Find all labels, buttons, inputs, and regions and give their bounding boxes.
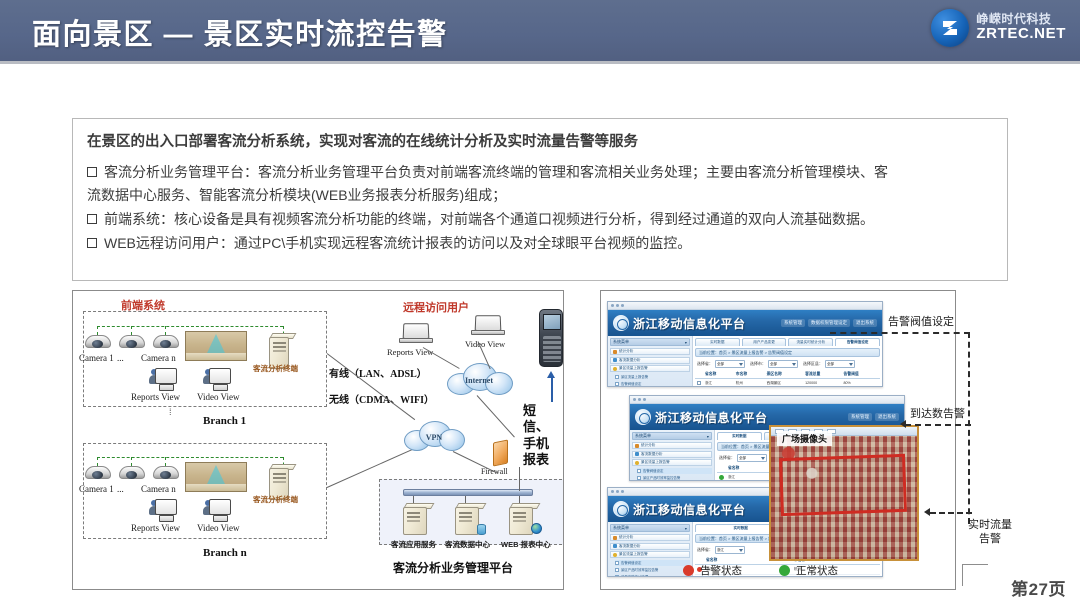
- description-title: 在景区的出入口部署客流分析系统，实现对客流的在线统计分析及实时流量告警等服务: [87, 132, 993, 154]
- bullet-icon: [635, 452, 639, 456]
- sidebar-item-statistics[interactable]: 统计分析: [610, 348, 690, 355]
- filter-city[interactable]: 选择市： 全部: [750, 360, 798, 368]
- camera-bus-line: [97, 326, 283, 327]
- tree-item-label: 告警阀值设定: [621, 381, 641, 386]
- filter-province[interactable]: 选择省： 全部: [697, 360, 745, 368]
- laptop1-to-internet-line: [423, 347, 460, 369]
- window-chip[interactable]: 系统管理: [781, 319, 805, 327]
- annotation-realtime-line2: 告警: [955, 532, 1025, 546]
- square-bullet-icon: [87, 238, 97, 248]
- sidebar-title: 系统菜单: [635, 433, 651, 439]
- camera-icon: [119, 335, 145, 352]
- description-item-1: 客流分析业务管理平台：客流分析业务管理平台负责对前端客流终端的管理和客流相关业务…: [87, 162, 993, 184]
- filter-label: 选择省：: [697, 547, 713, 553]
- annotation-line-vertical: [968, 332, 970, 524]
- scene-thumbnail: [185, 331, 247, 361]
- cell-province: 浙江: [703, 379, 734, 388]
- video-view-laptop-icon: [471, 315, 505, 337]
- col-status: [717, 465, 726, 473]
- description-item-2: 前端系统：核心设备是具有视频客流分析功能的终端，对前端各个通道口视频进行分析，得…: [87, 209, 993, 231]
- collapse-icon[interactable]: ▾: [685, 340, 687, 345]
- platform-seal-icon: [613, 501, 629, 517]
- legend-label: 正常状态: [796, 563, 838, 578]
- tree-item[interactable]: 流量实时统计管理: [615, 574, 690, 578]
- sidebar-tree[interactable]: 告警阀值设定 景区产品时效率监控告警 流量实时统计管理: [632, 468, 712, 482]
- status-dot-alarm-icon: [683, 565, 694, 576]
- tree-toggle-icon[interactable]: [615, 568, 619, 572]
- sidebar-item-label: 统计分析: [619, 349, 633, 354]
- branch1-to-vpn-line: [327, 353, 415, 420]
- tab-realtime-data[interactable]: 实时数据: [695, 338, 740, 346]
- app-title: 浙江移动信息化平台: [655, 409, 768, 426]
- sidebar-item-flow-analysis[interactable]: 客流数据分析: [610, 543, 690, 550]
- sidebar-item-statistics[interactable]: 统计分析: [632, 442, 712, 449]
- bullet-icon: [613, 350, 617, 354]
- vpn-cloud-icon: VPN: [401, 419, 467, 453]
- province-select[interactable]: 全部: [715, 360, 745, 368]
- annotation-arrow-realtime: [924, 508, 930, 516]
- city-select-value: 全部: [770, 362, 777, 367]
- platform-bus-bar: [403, 489, 533, 496]
- col-total: 客流总量: [803, 371, 841, 379]
- app-title: 浙江移动信息化平台: [633, 501, 746, 518]
- platform-seal-icon: [613, 315, 629, 331]
- sidebar-header: 系统菜单 ▾: [610, 338, 690, 346]
- sidebar-header: 系统菜单 ▾: [632, 432, 712, 440]
- tree-toggle-icon[interactable]: [615, 561, 619, 565]
- camera-ellipsis-label: ...: [117, 353, 124, 363]
- tree-item-label: 告警阀值设定: [621, 560, 641, 565]
- annotation-realtime-line1: 实时流量: [955, 518, 1025, 532]
- sms-arrow-icon: [547, 371, 555, 378]
- server-icon-application: [403, 507, 431, 537]
- camera-bus-drop: [131, 457, 132, 466]
- chevron-down-icon[interactable]: [739, 363, 743, 366]
- tree-toggle-icon[interactable]: [637, 476, 641, 480]
- database-cylinder-icon: [477, 524, 486, 535]
- screenshots-panel: 浙江移动信息化平台 系统管理 数据权限管理设定 退出系统 系统菜单 ▾ 统计分析: [600, 290, 956, 590]
- tree-item-label: 告警阀值设定: [643, 468, 663, 473]
- camera-icon: [85, 335, 111, 352]
- window-chrome: [608, 302, 882, 310]
- firewall-to-platform-link: [519, 467, 520, 491]
- square-camera-photo[interactable]: 广场摄像头: [769, 425, 919, 561]
- video-view-label: Video View: [465, 339, 505, 349]
- tab-strip[interactable]: 实时数据 用户产品变更 流量实时统计分析 告警阀值设定: [695, 338, 880, 346]
- sidebar-item-label: 景区流量上报告警: [619, 366, 648, 371]
- filter-district[interactable]: 选择区县： 全部: [803, 360, 855, 368]
- crowd-detection-region: [779, 454, 906, 516]
- square-bullet-icon: [87, 167, 97, 177]
- alarm-threshold-table: 省名称 市名称 景区名称 客流总量 告警阀值 浙江 杭州 西湖景区 120000…: [695, 371, 880, 387]
- row-status: [717, 473, 726, 482]
- tree-toggle-icon[interactable]: [615, 375, 619, 379]
- sidebar-item-label: 景区流量上报告警: [619, 552, 648, 557]
- window-main-content: 实时数据 用户产品变更 流量实时统计分析 告警阀值设定 当前位置：首页 > 景区…: [693, 336, 882, 386]
- sidebar-tree[interactable]: 告警阀值设定 景区产品时效率监控告警 流量实时统计管理: [610, 560, 690, 578]
- sidebar-item-label: 统计分析: [641, 443, 655, 448]
- annotation-line-arrival: [905, 424, 971, 426]
- tab-threshold-settings[interactable]: 告警阀值设定: [835, 338, 880, 346]
- breadcrumb-text: 当前位置：首页 > 景区流量上报告警 > 告警阀值设定: [699, 350, 792, 356]
- camera-last-label: Camera n: [141, 484, 176, 494]
- mobile-phone-icon: [539, 309, 563, 367]
- chevron-down-icon[interactable]: [792, 363, 796, 366]
- window-actions[interactable]: 系统管理 退出系统: [848, 413, 899, 421]
- tree-item-label: 景区产品时效率监控告警: [643, 475, 680, 480]
- window-chip[interactable]: 退出系统: [853, 319, 877, 327]
- sidebar-header: 系统菜单 ▾: [610, 524, 690, 532]
- tree-toggle-icon[interactable]: [615, 575, 619, 578]
- sidebar-item-scenic-alarm[interactable]: 景区流量上报告警: [632, 459, 712, 466]
- col-province: 省名称: [703, 371, 734, 379]
- camera-bus-drop: [165, 457, 166, 466]
- sidebar-tree[interactable]: 景区流量上报告警 告警阀值设定 景区产品时效率监控告警 流量实时统计管理: [610, 374, 690, 388]
- col-select: [695, 371, 703, 379]
- province-select-value: 全部: [717, 362, 724, 367]
- window-chip[interactable]: 退出系统: [875, 413, 899, 421]
- video-view-workstation-icon: [203, 498, 233, 524]
- brand-logo: 峥嵘时代科技 ZRTEC.NET: [931, 9, 1066, 47]
- branch-ellipsis: ⁞: [169, 409, 172, 416]
- bullet-icon: [635, 461, 639, 465]
- filter-bar[interactable]: 选择省： 全部 选择市： 全部 选择区县：: [695, 360, 880, 368]
- firewall-icon: [493, 439, 508, 466]
- province-select-value: 全部: [739, 456, 746, 461]
- tree-item[interactable]: 告警阀值设定: [637, 468, 712, 474]
- bullet-icon: [635, 444, 639, 448]
- brand-name-en: ZRTEC.NET: [976, 26, 1066, 42]
- camera-bus-drop: [97, 326, 98, 335]
- app-title: 浙江移动信息化平台: [633, 315, 746, 332]
- architecture-diagram-panel: 前端系统 Camera 1 ... Camera n 客流分析终端 Report…: [72, 290, 564, 590]
- sidebar-item-label: 客流数据分析: [619, 544, 641, 549]
- province-select-value: 浙江: [717, 548, 724, 553]
- description-item-3: WEB远程访问用户：通过PC\手机实现远程客流统计报表的访问以及对全球眼平台视频…: [87, 233, 993, 255]
- sms-report-label: 短信、手机报表: [523, 403, 557, 468]
- branchn-label: Branch n: [203, 547, 247, 559]
- server-label-application: 客流应用服务: [391, 539, 436, 550]
- analysis-terminal-label: 客流分析终端: [253, 494, 298, 505]
- tree-item[interactable]: 告警阀值设定: [615, 560, 690, 566]
- camera-last-label: Camera n: [141, 353, 176, 363]
- window-chip[interactable]: 系统管理: [848, 413, 872, 421]
- annotation-realtime-alarm: 实时流量 告警: [955, 518, 1025, 547]
- sidebar-item-label: 客流数据分析: [619, 358, 641, 363]
- bullet-icon: [613, 544, 617, 548]
- filter-province[interactable]: 选择省： 全部: [719, 454, 767, 462]
- camera-icon: [85, 466, 111, 483]
- filter-label: 选择市：: [750, 361, 766, 367]
- server-label-web-report: WEB 报表中心: [501, 539, 551, 550]
- legend-label: 告警状态: [700, 563, 742, 578]
- district-select[interactable]: 全部: [825, 360, 855, 368]
- sidebar-title: 系统菜单: [613, 525, 629, 531]
- collapse-icon[interactable]: ▾: [685, 526, 687, 531]
- window-body: 系统菜单 ▾ 统计分析 客流数据分析 景区流量上报告警 景区流量上报告警: [608, 336, 882, 386]
- cell-scenic: 西湖景区: [765, 379, 803, 388]
- bullet-icon: [613, 358, 617, 362]
- reports-view-workstation-icon: [149, 498, 179, 524]
- branch1-label: Branch 1: [203, 415, 246, 427]
- annotation-arrow-arrival: [900, 420, 906, 428]
- internet-label: Internet: [443, 376, 515, 385]
- sidebar-menu[interactable]: 系统菜单 ▾ 统计分析 客流数据分析 景区流量上报告警 告警阀值设定: [630, 430, 715, 480]
- camera-bus-drop: [131, 326, 132, 335]
- sidebar-item-scenic-alarm[interactable]: 景区流量上报告警: [610, 551, 690, 558]
- camera-first-label: Camera 1: [79, 484, 114, 494]
- status-dot-normal-icon: [779, 565, 790, 576]
- filter-province[interactable]: 选择省： 浙江: [697, 546, 745, 554]
- reports-view-label: Reports View: [131, 392, 180, 402]
- cell-total: 120000: [803, 379, 841, 388]
- sidebar-title: 系统菜单: [613, 339, 629, 345]
- camera-icon: [119, 466, 145, 483]
- province-select[interactable]: 全部: [737, 454, 767, 462]
- cell-threshold: 80%: [842, 379, 880, 388]
- analysis-terminal-label: 客流分析终端: [253, 363, 298, 374]
- description-item-text: WEB远程访问用户：通过PC\手机实现远程客流统计报表的访问以及对全球眼平台视频…: [104, 233, 993, 255]
- photo-caption: 广场摄像头: [777, 431, 832, 446]
- tree-item[interactable]: 告警阀值设定: [615, 381, 690, 387]
- camera-bus-drop: [97, 457, 98, 466]
- tree-item-label: 流量实时统计管理: [621, 574, 648, 577]
- legend-alarm-status: 告警状态: [683, 563, 742, 578]
- col-city: 市名称: [734, 371, 765, 379]
- app-window-threshold-settings[interactable]: 浙江移动信息化平台 系统管理 数据权限管理设定 退出系统 系统菜单 ▾ 统计分析: [607, 301, 883, 387]
- filter-label: 选择省：: [719, 455, 735, 461]
- camera-first-label: Camera 1: [79, 353, 114, 363]
- chevron-down-icon[interactable]: [739, 549, 743, 552]
- filter-label: 选择区县：: [803, 361, 823, 367]
- page-title: 面向景区 — 景区实时流控告警: [32, 11, 448, 53]
- server-label-datacenter: 客流数据中心: [445, 539, 490, 550]
- collapse-icon[interactable]: ▾: [707, 434, 709, 439]
- province-select[interactable]: 浙江: [715, 546, 745, 554]
- video-view-label: Video View: [197, 392, 240, 402]
- window-chip[interactable]: 数据权限管理设定: [808, 319, 850, 327]
- annotation-line-threshold: [830, 332, 970, 334]
- tree-item[interactable]: 景区产品时效率监控告警: [637, 475, 712, 481]
- vpn-to-platform-line: [453, 451, 498, 474]
- checkbox-icon[interactable]: [697, 381, 701, 385]
- bullet-icon: [613, 367, 617, 371]
- remote-user-label: 远程访问用户: [403, 299, 469, 315]
- col-threshold: 告警阀值: [842, 371, 880, 379]
- sms-arrow-stem: [551, 378, 553, 402]
- bullet-icon: [613, 553, 617, 557]
- scene-thumbnail: [185, 462, 247, 492]
- camera-ellipsis-label: ...: [117, 484, 124, 494]
- annotation-line-realtime: [930, 512, 972, 514]
- sidebar-menu[interactable]: 系统菜单 ▾ 统计分析 客流数据分析 景区流量上报告警 景区流量上报告警: [608, 336, 693, 386]
- tree-item[interactable]: 景区产品时效率监控告警: [615, 567, 690, 573]
- window-actions[interactable]: 系统管理 数据权限管理设定 退出系统: [781, 319, 877, 327]
- table-row[interactable]: 浙江 杭州 西湖景区 120000 80%: [695, 379, 880, 388]
- tree-item[interactable]: 景区流量上报告警: [615, 374, 690, 380]
- col-scenic: 景区名称: [765, 371, 803, 379]
- brand-text: 峥嵘时代科技 ZRTEC.NET: [976, 13, 1066, 42]
- video-view-workstation-icon: [203, 367, 233, 393]
- tree-item-label: 景区流量上报告警: [621, 374, 648, 379]
- globe-icon: [531, 523, 542, 534]
- sidebar-item-statistics[interactable]: 统计分析: [610, 534, 690, 541]
- window-chrome: [630, 396, 904, 404]
- description-continuation: 流数据中心服务、智能客流分析模块(WEB业务报表分析服务)组成；: [87, 185, 993, 207]
- tab-product-change[interactable]: 用户产品变更: [742, 338, 787, 346]
- city-select[interactable]: 全部: [768, 360, 798, 368]
- tab-realtime-data[interactable]: 实时数据: [717, 432, 762, 440]
- district-select-value: 全部: [827, 362, 834, 367]
- chevron-down-icon[interactable]: [761, 457, 765, 460]
- reports-view-workstation-icon: [149, 367, 179, 393]
- tab-realtime-statistics[interactable]: 流量实时统计分析: [788, 338, 833, 346]
- filter-label: 选择省：: [697, 361, 713, 367]
- square-bullet-icon: [87, 214, 97, 224]
- camera-icon: [153, 335, 179, 352]
- description-box: 在景区的出入口部署客流分析系统，实现对客流的在线统计分析及实时流量告警等服务 客…: [72, 118, 1008, 281]
- description-item-text: 客流分析业务管理平台：客流分析业务管理平台负责对前端客流终端的管理和客流相关业务…: [104, 162, 993, 184]
- sidebar-menu[interactable]: 系统菜单 ▾ 统计分析 客流数据分析 景区流量上报告警 告警阀值设定: [608, 522, 693, 576]
- breadcrumb: 当前位置：首页 > 景区流量上报告警 > 告警阀值设定: [695, 348, 880, 357]
- page-rule-decoration: [962, 564, 988, 586]
- status-dot-normal-icon: [719, 475, 724, 480]
- sidebar-item-label: 统计分析: [619, 535, 633, 540]
- platform-seal-icon: [635, 409, 651, 425]
- vpn-label: VPN: [401, 433, 467, 442]
- chevron-down-icon[interactable]: [849, 363, 853, 366]
- page-number: 第27页: [1011, 575, 1066, 600]
- camera-icon: [153, 466, 179, 483]
- sidebar-item-label: 客流数据分析: [641, 452, 663, 457]
- bullet-icon: [613, 536, 617, 540]
- tree-item-label: 景区产品时效率监控告警: [621, 567, 658, 572]
- sidebar-item-label: 景区流量上报告警: [641, 460, 670, 465]
- legend-normal-status: 正常状态: [779, 563, 838, 578]
- slide-header: 面向景区 — 景区实时流控告警 峥嵘时代科技 ZRTEC.NET: [0, 0, 1080, 64]
- reports-view-laptop-icon: [399, 323, 433, 345]
- company-logo-icon: [931, 9, 969, 47]
- sidebar-item-flow-analysis[interactable]: 客流数据分析: [632, 451, 712, 458]
- table-header-row: 省名称 市名称 景区名称 客流总量 告警阀值: [695, 371, 880, 379]
- video-view-label: Video View: [197, 523, 240, 533]
- tree-toggle-icon[interactable]: [637, 469, 641, 473]
- row-checkbox[interactable]: [695, 379, 703, 388]
- internet-to-firewall-line: [477, 395, 515, 437]
- platform-caption: 客流分析业务管理平台: [393, 559, 513, 576]
- sidebar-item-scenic-alarm[interactable]: 景区流量上报告警: [610, 365, 690, 372]
- annotation-arrival-alarm: 到达数告警: [910, 405, 965, 421]
- camera-bus-line: [97, 457, 283, 458]
- camera-bus-drop: [165, 326, 166, 335]
- reports-view-label: Reports View: [131, 523, 180, 533]
- cell-city: 杭州: [734, 379, 765, 388]
- sidebar-item-flow-analysis[interactable]: 客流数据分析: [610, 357, 690, 364]
- tree-toggle-icon[interactable]: [615, 382, 619, 386]
- description-item-text: 前端系统：核心设备是具有视频客流分析功能的终端，对前端各个通道口视频进行分析，得…: [104, 209, 993, 231]
- annotation-threshold-setting: 告警阀值设定: [888, 313, 954, 329]
